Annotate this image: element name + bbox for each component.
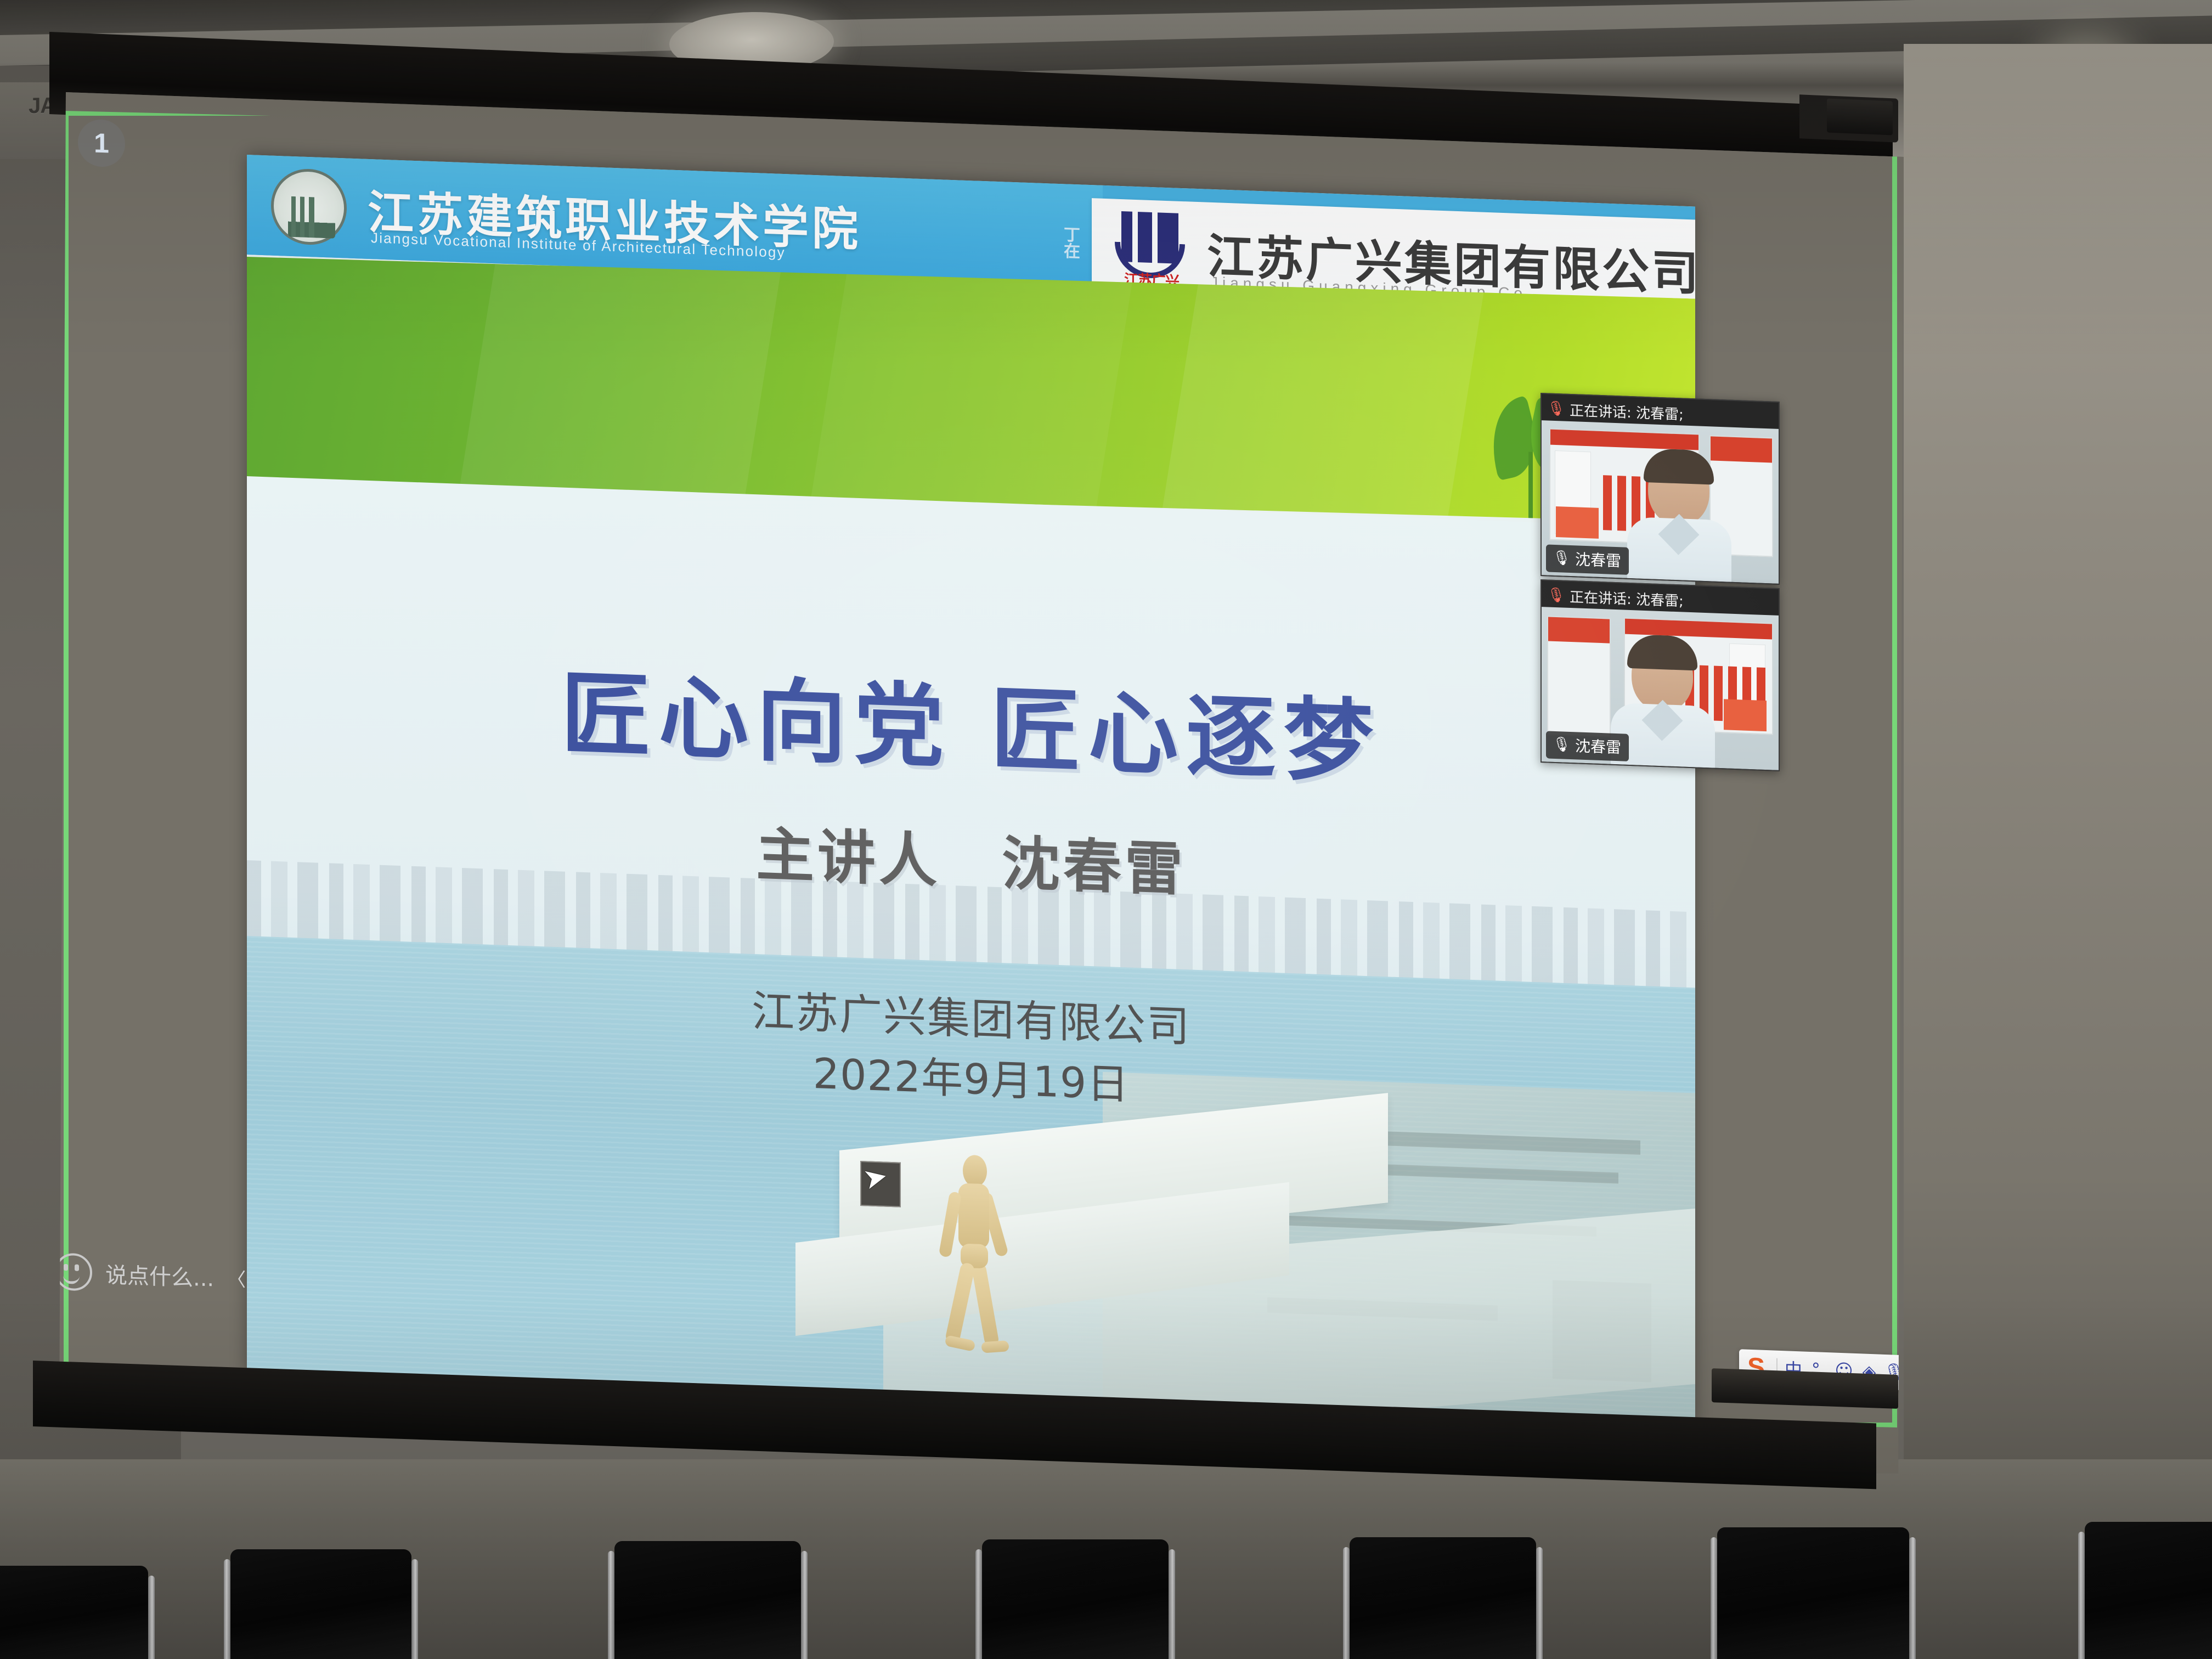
- participant-name-badge: 🎙 沈春雷: [1546, 731, 1629, 761]
- chair: [982, 1539, 1169, 1659]
- participant-name: 沈春雷: [1575, 734, 1621, 758]
- presentation-slide: 江苏建筑职业技术学院 Jiangsu Vocational Institute …: [247, 155, 1695, 1425]
- chevron-left-icon[interactable]: 〈: [227, 1264, 246, 1291]
- chat-input-placeholder[interactable]: 说点什么...: [105, 1257, 214, 1293]
- guangxing-building-logo-icon: 江苏广兴: [1110, 206, 1193, 295]
- keyboard-button[interactable]: ⌨: [1907, 1356, 1909, 1391]
- chair: [230, 1549, 411, 1659]
- projection-screen: 1 腾讯会议 江苏建筑职业技术学院 Jiangsu Vocational Ins…: [44, 53, 1909, 1490]
- projector-screen-weight-bar: [1712, 1368, 1898, 1409]
- mic-muted-icon: 🎙: [1547, 588, 1565, 602]
- right-wall: [1904, 44, 2212, 1659]
- speaking-label: 正在讲话: 沈春雷;: [1570, 399, 1684, 424]
- video-tile[interactable]: 🎙 正在讲话: 沈春雷;: [1541, 393, 1780, 585]
- next-page-chevron-icon[interactable]: 〈: [1893, 974, 1909, 1043]
- chair: [614, 1541, 801, 1659]
- photo-of-conference-room-projection: JAVES 1 腾讯会议: [0, 0, 2212, 1659]
- participant-name: 沈春雷: [1575, 548, 1621, 571]
- smiley-icon[interactable]: [55, 1252, 92, 1291]
- video-tile[interactable]: 🎙 正在讲话: 沈春雷;: [1541, 579, 1780, 771]
- participant-name-badge: 🎙 沈春雷: [1546, 544, 1629, 575]
- mic-muted-icon: 🎙: [1547, 401, 1565, 416]
- prev-page-chevron-icon[interactable]: 〈: [44, 941, 61, 1010]
- background-wallboard-left: [1547, 616, 1611, 737]
- screen-share-label: 沈春雷的屏幕共享: [48, 1470, 261, 1474]
- chair: [1350, 1537, 1536, 1659]
- chair: [1717, 1527, 1909, 1659]
- speaking-label: 正在讲话: 沈春雷;: [1570, 585, 1684, 610]
- slide-title: 匠心向党 匠心逐梦: [247, 630, 1695, 811]
- participant-video-portrait: [1624, 448, 1734, 583]
- chat-input-bar[interactable]: 说点什么... 〈: [55, 1245, 263, 1305]
- chair: [2085, 1522, 2212, 1659]
- slide-body: 匠心向党 匠心逐梦 主讲人 沈春雷 江苏广兴集团有限公司 2022年9月19日: [247, 476, 1695, 1425]
- mic-icon: 🎙: [1553, 737, 1571, 752]
- tencent-meeting-window: 1 腾讯会议 江苏建筑职业技术学院 Jiangsu Vocational Ins…: [44, 53, 1909, 1474]
- wooden-mannequin-icon: [935, 1154, 1007, 1370]
- institute-stamp-text: 丁在: [1032, 224, 1079, 271]
- chair: [0, 1566, 148, 1659]
- mic-icon: 🎙: [1553, 551, 1571, 566]
